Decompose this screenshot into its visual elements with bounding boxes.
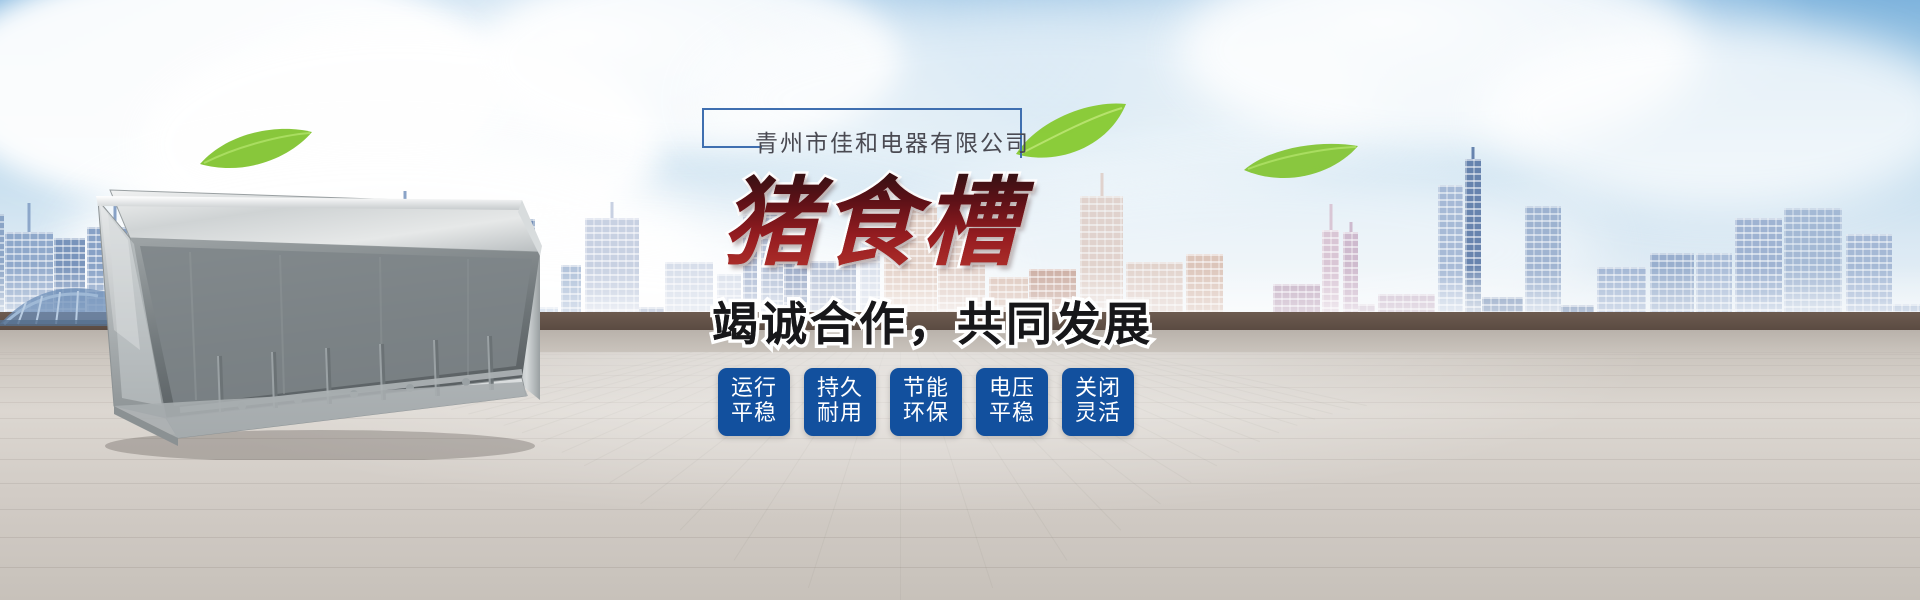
feature-badge-4[interactable]: 电压平稳 <box>976 368 1048 436</box>
company-name: 青州市佳和电器有限公司 <box>755 124 1030 158</box>
badge-line-1: 运行 <box>731 377 777 402</box>
leaf-icon <box>1242 140 1360 194</box>
subtitle: 竭诚合作，共同发展 <box>712 288 1153 354</box>
badge-line-1: 持久 <box>817 377 863 402</box>
feature-badge-3[interactable]: 节能环保 <box>890 368 962 436</box>
company-frame-left <box>702 108 704 148</box>
badge-line-1: 关闭 <box>1075 377 1121 402</box>
badge-line-2: 环保 <box>903 402 949 427</box>
badge-line-1: 电压 <box>989 377 1035 402</box>
feature-badge-2[interactable]: 持久耐用 <box>804 368 876 436</box>
building-spire <box>1100 173 1103 196</box>
building-spire <box>1472 147 1475 159</box>
building-spire <box>1349 222 1352 232</box>
badge-line-2: 平稳 <box>989 402 1035 427</box>
badge-line-2: 耐用 <box>817 402 863 427</box>
building-spire <box>611 202 614 218</box>
main-title: 猪食槽 <box>722 168 1042 278</box>
product-image-feed-trough <box>70 160 590 460</box>
company-frame-bottom <box>702 146 762 148</box>
feature-badge-1[interactable]: 运行平稳 <box>718 368 790 436</box>
badge-line-1: 节能 <box>903 377 949 402</box>
feature-badge-list: 运行平稳持久耐用节能环保电压平稳关闭灵活 <box>718 368 1134 436</box>
building-spire <box>1329 204 1332 230</box>
badge-line-2: 平稳 <box>731 402 777 427</box>
leaf-icon <box>196 120 316 180</box>
feature-badge-5[interactable]: 关闭灵活 <box>1062 368 1134 436</box>
promo-banner: 青州市佳和电器有限公司 猪食槽 猪食槽 竭诚合作，共同发展 竭诚合作，共同发展 … <box>0 0 1920 600</box>
badge-line-2: 灵活 <box>1075 402 1121 427</box>
